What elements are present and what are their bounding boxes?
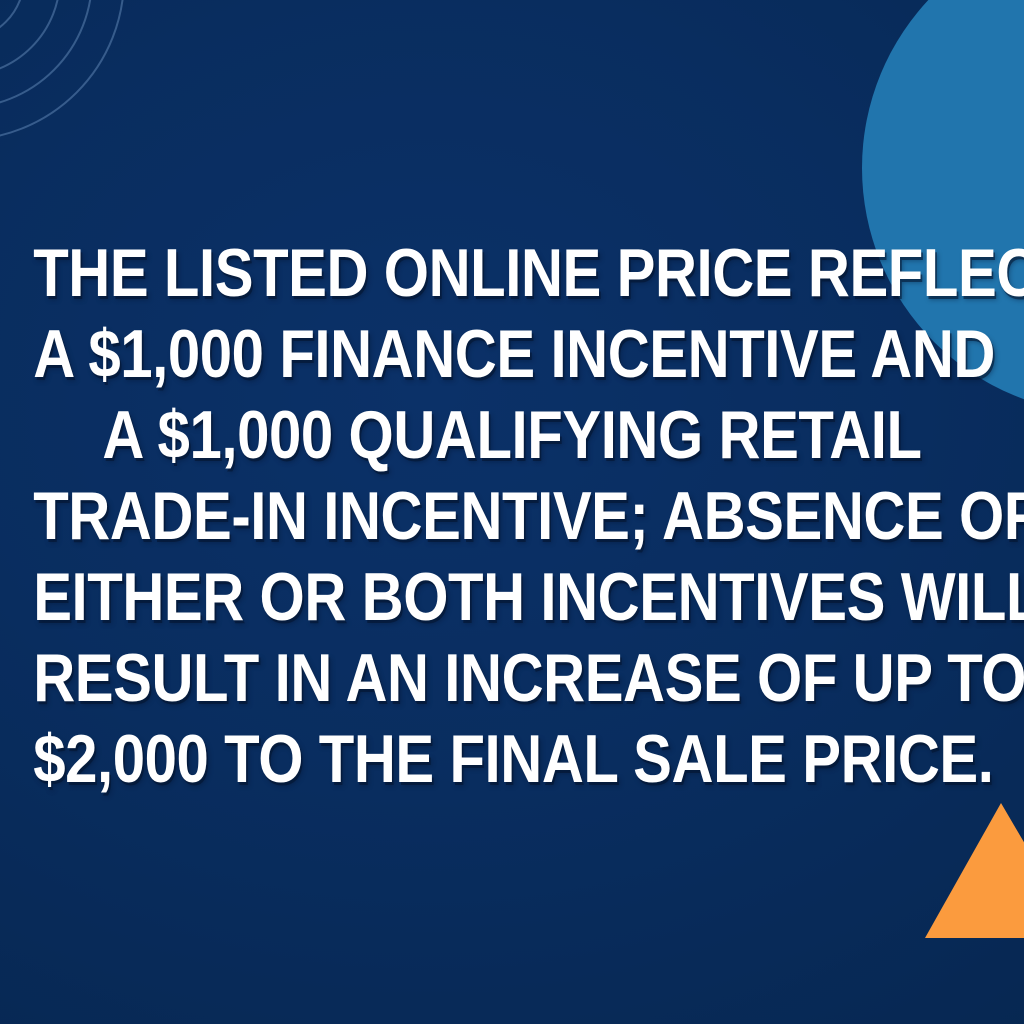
- disclaimer-line-7: $2,000 TO THE FINAL SALE PRICE.: [33, 719, 991, 800]
- accent-triangle-shape: [925, 803, 1024, 938]
- accent-triangle-decoration: [880, 770, 1024, 990]
- arc-ring-2: [0, 0, 60, 76]
- disclaimer-line-1: THE LISTED ONLINE PRICE REFLECTS: [33, 233, 991, 314]
- arc-ring-3: [0, 0, 92, 108]
- arc-ring-4: [0, 0, 124, 140]
- disclaimer-text-block: THE LISTED ONLINE PRICE REFLECTS A $1,00…: [0, 233, 1024, 800]
- disclaimer-line-5: EITHER OR BOTH INCENTIVES WILL: [33, 557, 991, 638]
- disclaimer-line-4: TRADE-IN INCENTIVE; ABSENCE OF: [33, 476, 991, 557]
- disclaimer-line-2: A $1,000 FINANCE INCENTIVE AND: [33, 314, 991, 395]
- disclaimer-line-3: A $1,000 QUALIFYING RETAIL: [33, 395, 991, 476]
- arc-ring-1: [0, 0, 24, 40]
- disclaimer-line-6: RESULT IN AN INCREASE OF UP TO: [33, 638, 991, 719]
- disclaimer-graphic: THE LISTED ONLINE PRICE REFLECTS A $1,00…: [0, 0, 1024, 1024]
